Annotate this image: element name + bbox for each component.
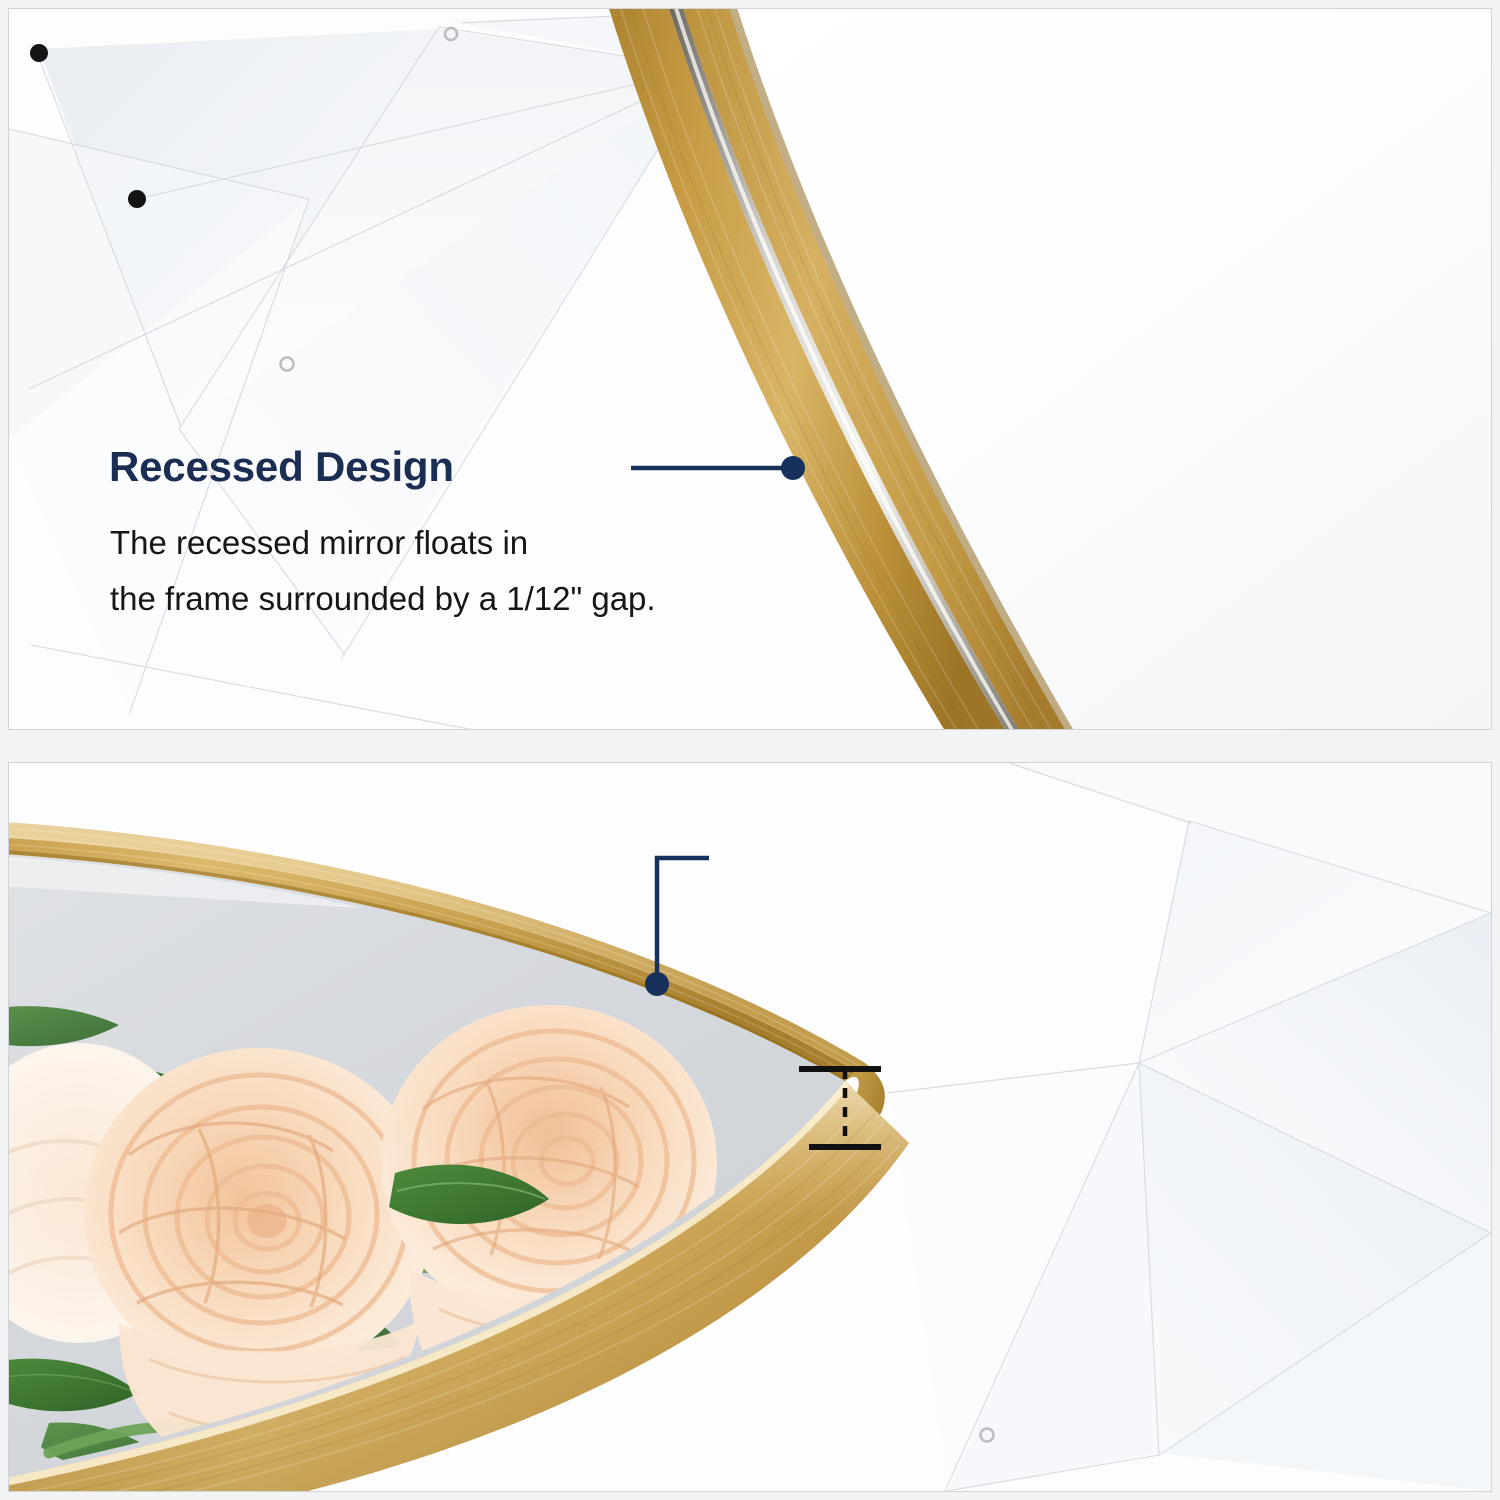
recessed-body-line-1: The recessed mirror floats in	[110, 515, 656, 571]
hd-glass-panel: Polishing with high-quality silver, coat…	[8, 762, 1492, 1492]
product-feature-infographic: Recessed Design The recessed mirror floa…	[0, 0, 1500, 1500]
recessed-design-title: Recessed Design	[109, 443, 454, 491]
recessed-body-line-2: the frame surrounded by a 1/12" gap.	[110, 571, 656, 627]
recessed-design-body: The recessed mirror floats in the frame …	[110, 515, 656, 627]
frame-dimension-bracket	[9, 763, 1491, 1491]
recessed-design-panel: Recessed Design The recessed mirror floa…	[8, 8, 1492, 730]
